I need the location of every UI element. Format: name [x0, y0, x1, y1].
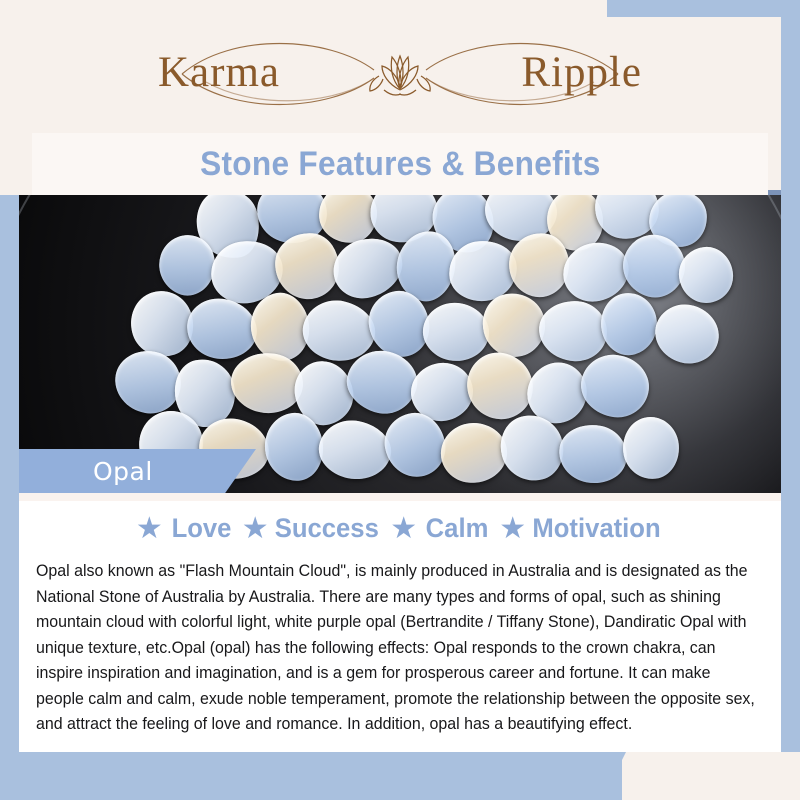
infographic-page: Karma Ripple Stone Features & Benefits [0, 0, 800, 800]
brand-name-left: Karma [158, 49, 280, 96]
keyword-label: Love [171, 513, 231, 544]
star-icon: ★ [390, 514, 417, 544]
star-icon: ★ [136, 514, 163, 544]
stone-name-label: Opal [93, 457, 153, 486]
panel-top-strip [19, 493, 781, 501]
keyword-success: ★ Success [242, 513, 382, 544]
section-title-band: Stone Features & Benefits [32, 133, 768, 195]
frame-accent-left [0, 195, 19, 753]
keyword-label: Motivation [533, 513, 661, 544]
brand-logo-svg: Karma Ripple [140, 24, 660, 120]
opal-stone-cluster [19, 195, 781, 493]
brand-logo: Karma Ripple [0, 22, 800, 122]
star-icon: ★ [242, 514, 269, 544]
keyword-label: Calm [426, 513, 489, 544]
benefit-keyword-row: ★ Love ★ Success ★ Calm ★ Motivation [19, 513, 781, 544]
brand-name-right: Ripple [521, 49, 642, 96]
keyword-label: Success [274, 513, 378, 544]
keyword-motivation: ★ Motivation [499, 513, 664, 544]
product-photo [19, 195, 781, 493]
stone-name-banner: Opal [19, 449, 256, 493]
lotus-icon [370, 56, 430, 95]
keyword-calm: ★ Calm [390, 513, 490, 544]
star-icon: ★ [499, 514, 526, 544]
keyword-love: ★ Love [136, 513, 233, 544]
description-panel: ★ Love ★ Success ★ Calm ★ Motivation Opa… [19, 493, 781, 752]
frame-accent-top-right [607, 0, 800, 17]
page-title: Stone Features & Benefits [200, 145, 601, 184]
description-text: Opal also known as "Flash Mountain Cloud… [36, 559, 759, 738]
frame-accent-bottom [0, 752, 622, 800]
